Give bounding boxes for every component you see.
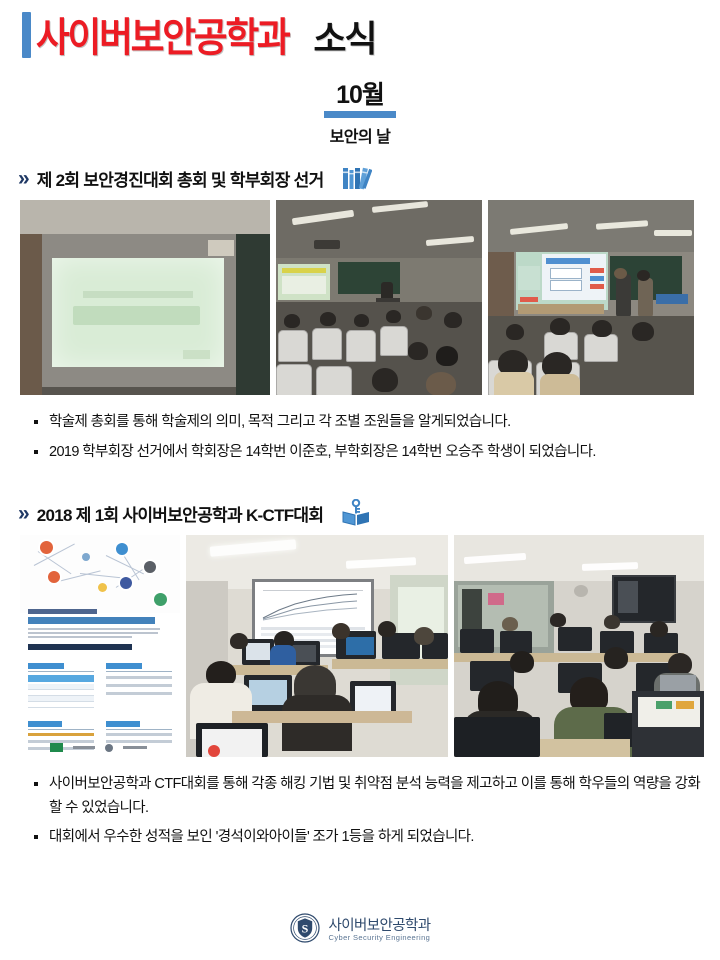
photo-computer-lab-scoreboard (186, 535, 448, 757)
issue-subtitle: 보안의 날 (0, 123, 720, 147)
section-1-photo-row (0, 200, 720, 395)
masthead-title-black: 소식 (313, 10, 375, 62)
issue-month: 10월 (0, 82, 720, 108)
bullet-item: 사이버보안공학과 CTF대회를 통해 각종 해킹 기법 및 취약점 분석 능력을… (34, 773, 702, 820)
masthead: 사이버보안공학과소식 (0, 0, 720, 58)
chevron-right-icon: » (18, 503, 28, 524)
photo-lecture-hall-audience (276, 200, 482, 395)
svg-text:S: S (301, 921, 308, 935)
books-icon (342, 165, 372, 191)
masthead-title-red: 사이버보안공학과 (36, 5, 288, 63)
section-2-photo-row (0, 535, 720, 757)
footer-name-ko: 사이버보안공학과 (329, 919, 431, 934)
section-ctf-competition: » 2018 제 1회 사이버보안공학과 K-CTF대회 (0, 498, 720, 849)
section-security-competition: » 제 2회 보안경진대회 총회 및 학부회장 선거 (0, 163, 720, 464)
bullet-item: 학술제 총회를 통해 학술제의 의미, 목적 그리고 각 조별 조원들을 알게되… (34, 411, 702, 434)
photo-projector-screen-assembly (20, 200, 270, 395)
footer: S 사이버보안공학과 Cyber Security Engineering (0, 913, 720, 948)
bullet-item: 2019 학부회장 선거에서 학회장은 14학번 이준호, 부학회장은 14학번… (34, 441, 702, 464)
section-2-header: » 2018 제 1회 사이버보안공학과 K-CTF대회 (0, 498, 720, 528)
photo-students-competing (454, 535, 704, 757)
section-1-title: 제 2회 보안경진대회 총회 및 학부회장 선거 (37, 166, 324, 191)
photo-ctf-event-poster (20, 535, 180, 757)
shield-s-logo: S (290, 913, 320, 948)
issue-month-block: 10월 보안의 날 (0, 82, 720, 147)
photo-presenters-front-of-class (488, 200, 694, 395)
open-book-key-icon (341, 499, 371, 527)
masthead-accent-bar (22, 12, 31, 58)
section-2-title: 2018 제 1회 사이버보안공학과 K-CTF대회 (37, 501, 324, 526)
chevron-right-icon: » (18, 168, 28, 189)
issue-month-underline (324, 111, 396, 118)
masthead-title: 사이버보안공학과소식 (36, 5, 376, 63)
bullet-item: 대회에서 우수한 성적을 보인 '경석이와아이들' 조가 1등을 하게 되었습니… (34, 826, 702, 849)
footer-brand: 사이버보안공학과 Cyber Security Engineering (329, 919, 431, 942)
section-1-bullets: 학술제 총회를 통해 학술제의 의미, 목적 그리고 각 조별 조원들을 알게되… (0, 411, 720, 464)
footer-name-en: Cyber Security Engineering (329, 934, 431, 942)
section-1-header: » 제 2회 보안경진대회 총회 및 학부회장 선거 (0, 163, 720, 193)
section-2-bullets: 사이버보안공학과 CTF대회를 통해 각종 해킹 기법 및 취약점 분석 능력을… (0, 773, 720, 849)
